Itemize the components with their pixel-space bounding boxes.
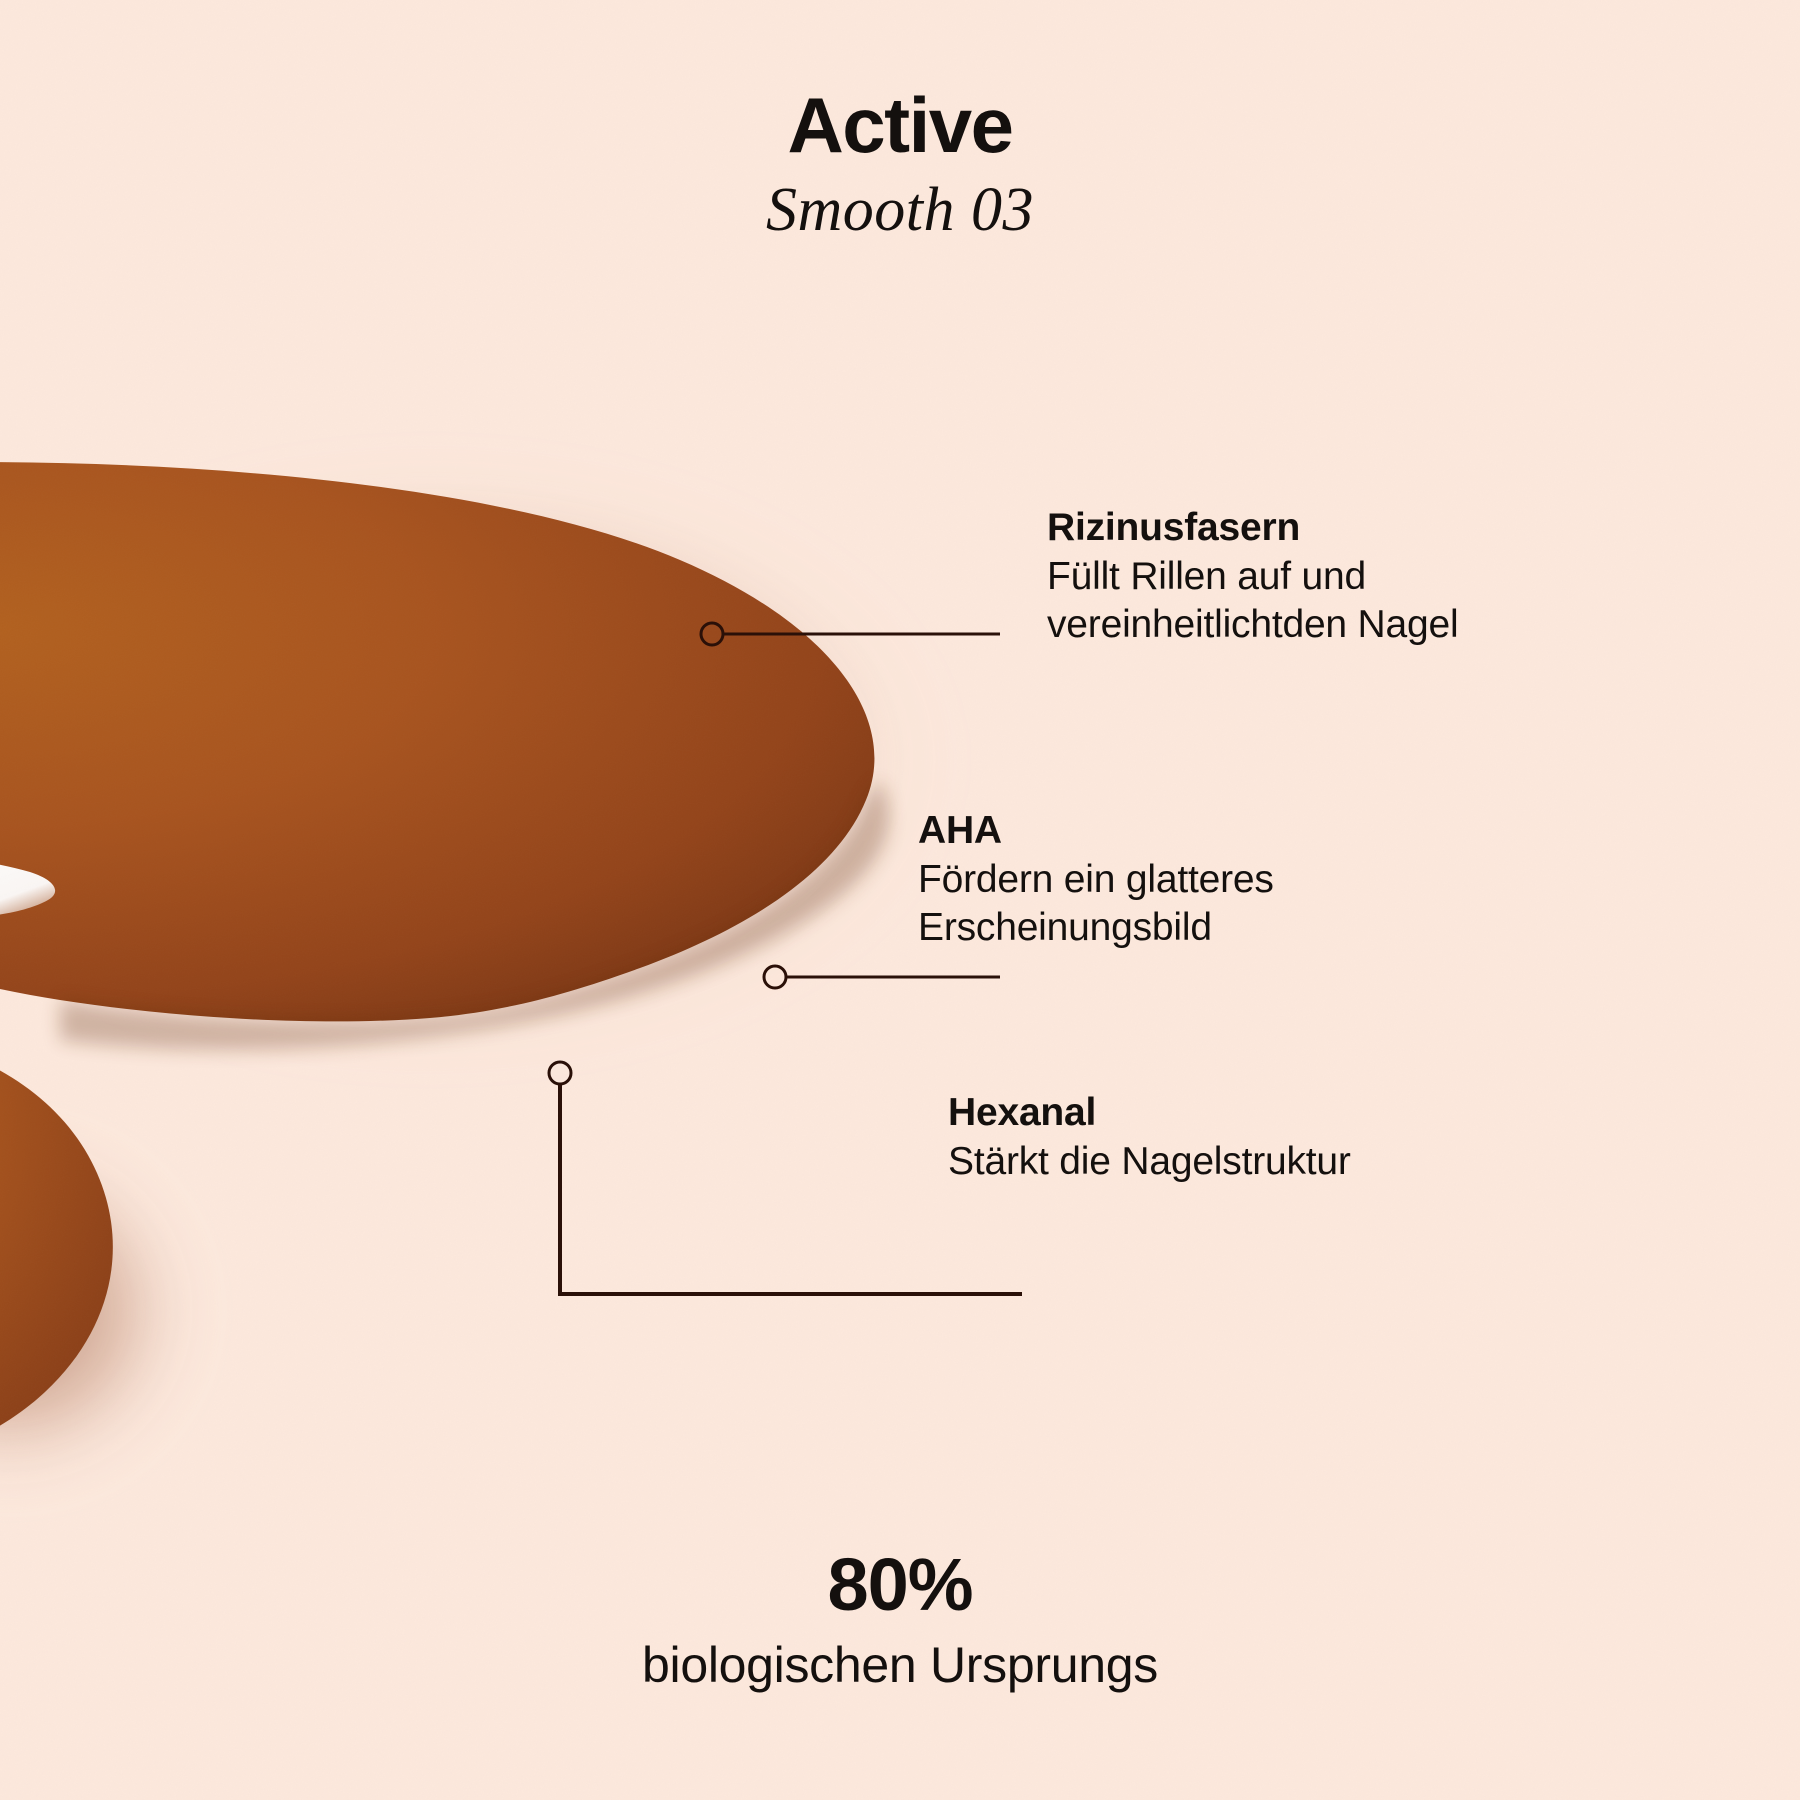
big-droplet <box>0 462 874 1021</box>
callout-aha: AHA Fördern ein glatteres Erscheinungsbi… <box>918 808 1274 953</box>
callout-title-aha: AHA <box>918 808 1274 854</box>
liquid-droplet-artwork <box>0 0 1800 1800</box>
page-subtitle: Smooth 03 <box>0 178 1800 243</box>
small-droplet <box>0 1029 113 1474</box>
callout-desc-line: Fördern ein glatteres <box>918 856 1274 904</box>
callout-description-aha: Fördern ein glatteres Erscheinungsbild <box>918 856 1274 953</box>
grain-overlay <box>0 0 1800 1800</box>
leader-line-aha <box>764 966 1000 988</box>
page-title: Active <box>0 86 1800 164</box>
callout-leader-lines <box>0 0 1800 1800</box>
stat-label: biologischen Ursprungs <box>0 1638 1800 1693</box>
callout-rizinusfasern: Rizinusfasern Füllt Rillen auf und verei… <box>1047 505 1458 650</box>
big-droplet-shadow <box>0 460 950 1060</box>
header-block: Active Smooth 03 <box>0 86 1800 243</box>
callout-title-hexanal: Hexanal <box>948 1090 1351 1136</box>
stat-value: 80% <box>0 1548 1800 1622</box>
small-droplet-shadow <box>0 1130 200 1490</box>
callout-description-hexanal: Stärkt die Nagelstruktur <box>948 1138 1351 1186</box>
callout-description-rizinusfasern: Füllt Rillen auf und vereinheitlichtden … <box>1047 553 1458 650</box>
leader-line-rizinusfasern <box>701 623 1000 645</box>
callout-desc-line: Stärkt die Nagelstruktur <box>948 1138 1351 1186</box>
callout-hexanal: Hexanal Stärkt die Nagelstruktur <box>948 1090 1351 1186</box>
footer-stat-block: 80% biologischen Ursprungs <box>0 1548 1800 1693</box>
big-droplet-rim-shade <box>60 780 889 1050</box>
callout-desc-line: vereinheitlichtden Nagel <box>1047 601 1458 649</box>
big-droplet-highlight <box>0 854 55 918</box>
callout-title-rizinusfasern: Rizinusfasern <box>1047 505 1458 551</box>
callout-desc-line: Füllt Rillen auf und <box>1047 553 1458 601</box>
product-ingredient-infographic: Active Smooth 03 Rizinusfasern Füllt Ril… <box>0 0 1800 1800</box>
callout-desc-line: Erscheinungsbild <box>918 904 1274 952</box>
